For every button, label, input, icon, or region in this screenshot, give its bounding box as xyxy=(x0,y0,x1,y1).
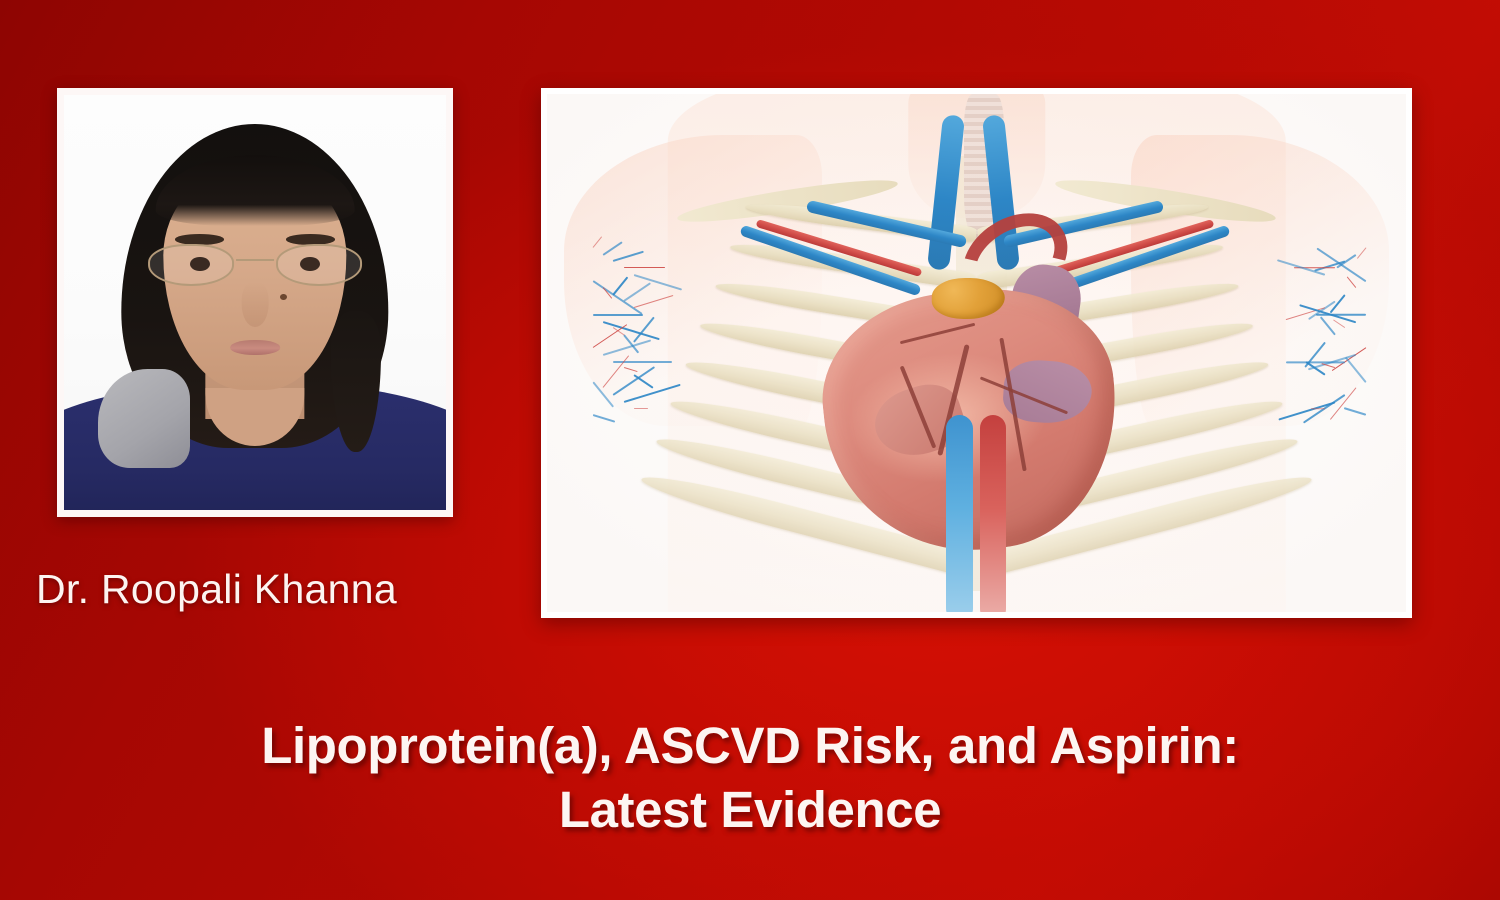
pulmonary-vein-branch-3 xyxy=(613,251,644,263)
pulmonary-vein-branch-26 xyxy=(593,414,616,422)
pulmonary-vein-branch-2 xyxy=(603,241,623,255)
pulmonary-artery-branch-25 xyxy=(1311,408,1325,409)
pulmonary-vein-branch-18 xyxy=(1286,361,1345,363)
photo-shawl xyxy=(98,369,190,469)
pulmonary-vein-branch-15 xyxy=(633,316,655,342)
title-line-2: Latest Evidence xyxy=(70,778,1430,842)
pulmonary-artery-branch-4 xyxy=(624,267,665,268)
photo-eyebrow-right xyxy=(286,234,336,245)
pulmonary-vein-branch-12 xyxy=(603,321,660,341)
pulmonary-vein-branch-11 xyxy=(1316,314,1366,316)
pulmonary-artery-branch-10 xyxy=(634,295,674,308)
title-line-1: Lipoprotein(a), ASCVD Risk, and Aspirin: xyxy=(70,714,1430,778)
photo-nose xyxy=(242,282,269,328)
descending-aorta xyxy=(980,415,1006,612)
pulmonary-vein-branch-6 xyxy=(1316,248,1366,283)
photo-eye-left xyxy=(190,257,210,271)
pulmonary-vein-branch-6 xyxy=(592,281,642,316)
pulmonary-artery-branch-19 xyxy=(623,367,637,372)
pulmonary-artery-branch-16 xyxy=(593,324,628,348)
chest-anatomy-illustration xyxy=(547,94,1406,612)
pulmonary-vein-branch-9 xyxy=(623,283,651,303)
photo-glasses-bridge xyxy=(236,259,275,261)
pulmonary-vein-branch-24 xyxy=(1278,401,1335,421)
pulmonary-artery-branch-25 xyxy=(634,408,648,409)
inferior-vena-cava xyxy=(946,415,973,612)
pulmonary-vein-branch-17 xyxy=(603,339,651,355)
webinar-banner: Dr. Roopali Khanna xyxy=(0,0,1500,900)
pulmonary-vein-branch-26 xyxy=(1344,408,1367,416)
pulmonary-artery-branch-1 xyxy=(1357,247,1367,259)
photo-eye-right xyxy=(300,257,320,271)
pulmonary-vessel-tree-left xyxy=(590,239,736,436)
photo-eyeglasses xyxy=(148,244,362,286)
pulmonary-vein-branch-8 xyxy=(613,276,629,295)
photo-lips xyxy=(230,340,280,355)
pulmonary-vessel-tree-right xyxy=(1226,239,1372,436)
speaker-photo xyxy=(64,95,446,510)
pulmonary-vein-branch-20 xyxy=(633,374,653,388)
photo-eyebrow-left xyxy=(175,234,225,245)
hero-image-frame xyxy=(541,88,1412,618)
page-title: Lipoprotein(a), ASCVD Risk, and Aspirin:… xyxy=(0,714,1500,842)
pulmonary-artery-branch-7 xyxy=(1346,276,1356,288)
pulmonary-vein-branch-21 xyxy=(1345,356,1367,382)
pulmonary-vein-branch-11 xyxy=(593,314,643,316)
speaker-photo-frame xyxy=(57,88,453,517)
pulmonary-artery-branch-13 xyxy=(1333,319,1345,328)
speaker-name: Dr. Roopali Khanna xyxy=(36,566,506,613)
